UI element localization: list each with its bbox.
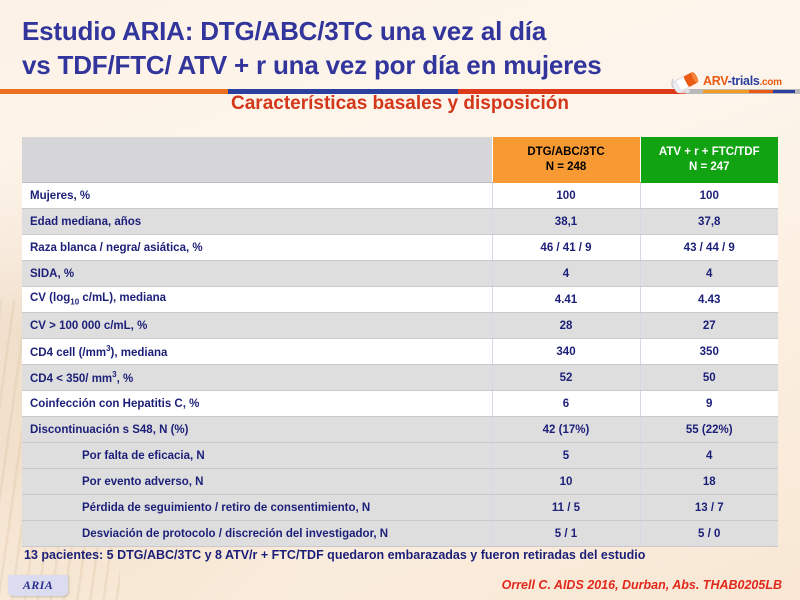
cell-arm2: 4 xyxy=(640,443,778,469)
cell-arm2: 55 (22%) xyxy=(640,417,778,443)
logo-text-arv: ARV xyxy=(703,74,728,88)
cell-arm2: 9 xyxy=(640,391,778,417)
cell-arm1: 5 xyxy=(492,443,640,469)
table-row: Coinfección con Hepatitis C, %69 xyxy=(22,391,778,417)
cell-arm1: 46 / 41 / 9 xyxy=(492,235,640,261)
table-row: Mujeres, %100100 xyxy=(22,183,778,209)
column-header-arm2: ATV + r + FTC/TDF N = 247 xyxy=(640,137,778,183)
aria-footer-tab-label: ARIA xyxy=(23,578,53,593)
table-row: Pérdida de seguimiento / retiro de conse… xyxy=(22,495,778,521)
title-line-1: Estudio ARIA: DTG/ABC/3TC una vez al día xyxy=(22,14,662,48)
cell-arm2: 4 xyxy=(640,261,778,287)
table-header: DTG/ABC/3TC N = 248 ATV + r + FTC/TDF N … xyxy=(22,137,778,183)
row-label: Mujeres, % xyxy=(22,183,492,209)
cell-arm1: 6 xyxy=(492,391,640,417)
row-label: Coinfección con Hepatitis C, % xyxy=(22,391,492,417)
table-body: Mujeres, %100100Edad mediana, años38,137… xyxy=(22,183,778,547)
row-label: SIDA, % xyxy=(22,261,492,287)
slide-subtitle: Características basales y disposición xyxy=(0,93,800,115)
table-row: Por falta de eficacia, N54 xyxy=(22,443,778,469)
row-label: CV (log10 c/mL), mediana xyxy=(22,287,492,313)
row-label: Por falta de eficacia, N xyxy=(22,443,492,469)
cell-arm1: 38,1 xyxy=(492,209,640,235)
cell-arm2: 18 xyxy=(640,469,778,495)
data-table: DTG/ABC/3TC N = 248 ATV + r + FTC/TDF N … xyxy=(22,137,778,547)
cell-arm2: 27 xyxy=(640,313,778,339)
row-label: Edad mediana, años xyxy=(22,209,492,235)
row-label: Por evento adverso, N xyxy=(22,469,492,495)
table-row: Desviación de protocolo / discreción del… xyxy=(22,521,778,547)
cell-arm2: 350 xyxy=(640,339,778,365)
cell-arm1: 100 xyxy=(492,183,640,209)
row-label: Discontinuación s S48, N (%) xyxy=(22,417,492,443)
row-label: Pérdida de seguimiento / retiro de conse… xyxy=(22,495,492,521)
table-row: Edad mediana, años38,137,8 xyxy=(22,209,778,235)
table-header-row: DTG/ABC/3TC N = 248 ATV + r + FTC/TDF N … xyxy=(22,137,778,183)
table-row: Raza blanca / negra/ asiática, %46 / 41 … xyxy=(22,235,778,261)
cell-arm2: 100 xyxy=(640,183,778,209)
row-label: CD4 < 350/ mm3, % xyxy=(22,365,492,391)
logo-text: ARV-trials.com xyxy=(703,74,782,88)
cell-arm2: 43 / 44 / 9 xyxy=(640,235,778,261)
cell-arm2: 50 xyxy=(640,365,778,391)
arm1-regimen: DTG/ABC/3TC xyxy=(493,145,640,160)
cell-arm2: 5 / 0 xyxy=(640,521,778,547)
table-row: SIDA, %44 xyxy=(22,261,778,287)
cell-arm1: 10 xyxy=(492,469,640,495)
table-row: CD4 < 350/ mm3, %5250 xyxy=(22,365,778,391)
arm2-regimen: ATV + r + FTC/TDF xyxy=(641,145,779,160)
footnote: 13 pacientes: 5 DTG/ABC/3TC y 8 ATV/r + … xyxy=(24,548,645,562)
cell-arm1: 42 (17%) xyxy=(492,417,640,443)
title-line-2: vs TDF/FTC/ ATV + r una vez por día en m… xyxy=(22,48,662,82)
cell-arm1: 28 xyxy=(492,313,640,339)
cell-arm1: 52 xyxy=(492,365,640,391)
cell-arm1: 4 xyxy=(492,261,640,287)
table-row: CD4 cell (/mm3), mediana340350 xyxy=(22,339,778,365)
arm1-n: N = 248 xyxy=(493,160,640,175)
reference-citation: Orrell C. AIDS 2016, Durban, Abs. THAB02… xyxy=(502,578,782,592)
page-title: Estudio ARIA: DTG/ABC/3TC una vez al día… xyxy=(22,14,662,82)
cell-arm1: 5 / 1 xyxy=(492,521,640,547)
cell-arm1: 340 xyxy=(492,339,640,365)
pill-bottle-icon xyxy=(671,70,701,94)
logo-text-trials: -trials xyxy=(728,74,760,88)
logo-text-com: .com xyxy=(760,77,782,88)
row-label: CD4 cell (/mm3), mediana xyxy=(22,339,492,365)
baseline-characteristics-table: DTG/ABC/3TC N = 248 ATV + r + FTC/TDF N … xyxy=(22,137,778,547)
table-row: CV (log10 c/mL), mediana4.414.43 xyxy=(22,287,778,313)
cell-arm2: 4.43 xyxy=(640,287,778,313)
row-label: Desviación de protocolo / discreción del… xyxy=(22,521,492,547)
cell-arm1: 11 / 5 xyxy=(492,495,640,521)
cell-arm2: 37,8 xyxy=(640,209,778,235)
aria-footer-tab[interactable]: ARIA xyxy=(8,575,68,596)
table-row: Discontinuación s S48, N (%)42 (17%)55 (… xyxy=(22,417,778,443)
table-row: CV > 100 000 c/mL, %2827 xyxy=(22,313,778,339)
column-header-arm1: DTG/ABC/3TC N = 248 xyxy=(492,137,640,183)
cell-arm2: 13 / 7 xyxy=(640,495,778,521)
column-header-characteristic xyxy=(22,137,492,183)
arm2-n: N = 247 xyxy=(641,160,779,175)
row-label: CV > 100 000 c/mL, % xyxy=(22,313,492,339)
table-row: Por evento adverso, N1018 xyxy=(22,469,778,495)
cell-arm1: 4.41 xyxy=(492,287,640,313)
row-label: Raza blanca / negra/ asiática, % xyxy=(22,235,492,261)
